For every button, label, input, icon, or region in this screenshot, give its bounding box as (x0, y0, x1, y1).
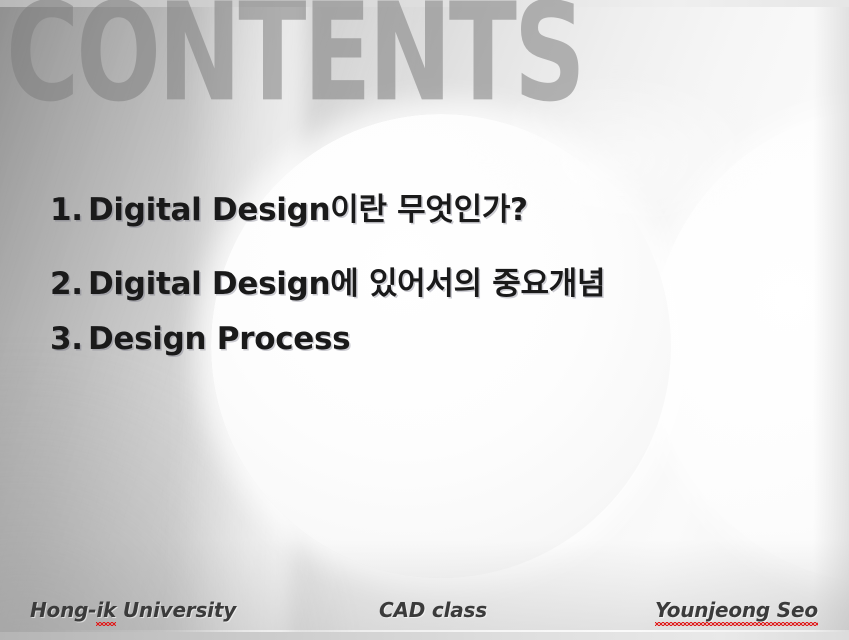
list-item[interactable]: 3. Design Process (50, 321, 810, 357)
list-item-number: 3. (50, 321, 84, 357)
list-item-label: Digital Design이란 무엇인가? (88, 184, 528, 229)
footer-institution: Hong-ik University (30, 598, 236, 622)
slide-footer: Hong-ik University CAD class Younjeong S… (0, 594, 849, 632)
list-item[interactable]: 2. Digital Design에 있어서의 중요개념 (50, 258, 810, 303)
list-item-label: Digital Design에 있어서의 중요개념 (88, 258, 605, 303)
footer-author: Younjeong Seo (655, 598, 818, 622)
list-item-label: Design Process (88, 321, 350, 357)
agenda-list: 1. Digital Design이란 무엇인가? 2. Digital Des… (50, 184, 810, 357)
list-item-number: 2. (50, 266, 84, 302)
footer-course: CAD class (379, 598, 487, 622)
list-item-number: 1. (50, 192, 84, 228)
list-item[interactable]: 1. Digital Design이란 무엇인가? (50, 184, 810, 229)
footer-institution-suffix: University (116, 598, 236, 622)
page-title: CONTENTS (6, 0, 583, 122)
presentation-slide: CONTENTS 1. Digital Design이란 무엇인가? 2. Di… (0, 0, 849, 640)
footer-institution-prefix: Hong- (30, 598, 96, 622)
spellcheck-misspelled-word: ik (96, 598, 116, 622)
slide-bottom-border (0, 632, 849, 640)
spellcheck-misspelled-name: Younjeong Seo (655, 598, 818, 622)
